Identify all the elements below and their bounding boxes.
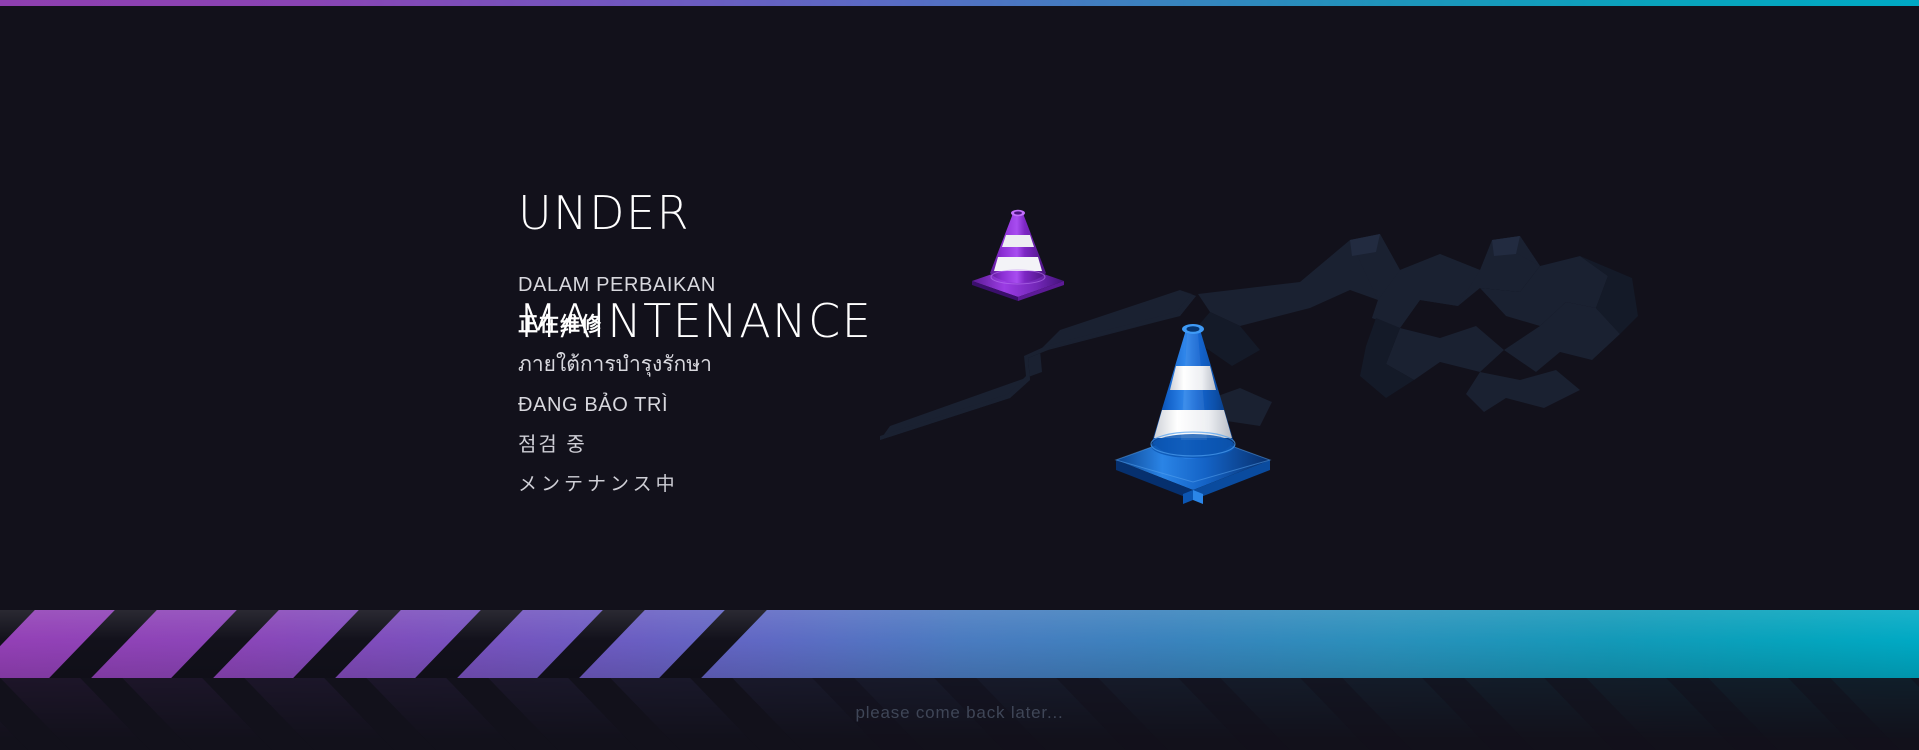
band-stripe-gap	[533, 610, 648, 678]
top-gradient-bar	[0, 0, 1919, 6]
message-korean: 점검 중	[518, 425, 1038, 465]
message-vietnamese: ĐANG BẢO TRÌ	[518, 385, 1038, 425]
band-stripe-gap	[655, 610, 770, 678]
footer-note: please come back later...	[0, 703, 1919, 723]
message-chinese: 正在维修	[518, 305, 1038, 345]
translated-messages: DALAM PERBAIKAN 正在维修 ภายใต้การบำรุงรักษา…	[518, 265, 1038, 505]
band-stripe-gap	[289, 610, 404, 678]
message-japanese: メンテナンス中	[518, 465, 1038, 505]
message-thai: ภายใต้การบำรุงรักษา	[518, 345, 1038, 385]
cone-blue-svg	[1108, 314, 1278, 504]
headline-line-1: UNDER	[518, 186, 872, 240]
band-stripe-gap	[45, 610, 160, 678]
band-stripe-gap	[411, 610, 526, 678]
band-stripe-gap	[0, 610, 39, 678]
traffic-cone-blue	[1108, 314, 1278, 504]
band-stripe-gaps	[0, 610, 1919, 678]
message-indonesian: DALAM PERBAIKAN	[518, 265, 1038, 305]
maintenance-page: UNDER MAINTENANCE DALAM PERBAIKAN 正在维修 ภ…	[0, 0, 1919, 750]
band-stripe-gap	[167, 610, 282, 678]
hazard-stripe-band	[0, 610, 1919, 678]
